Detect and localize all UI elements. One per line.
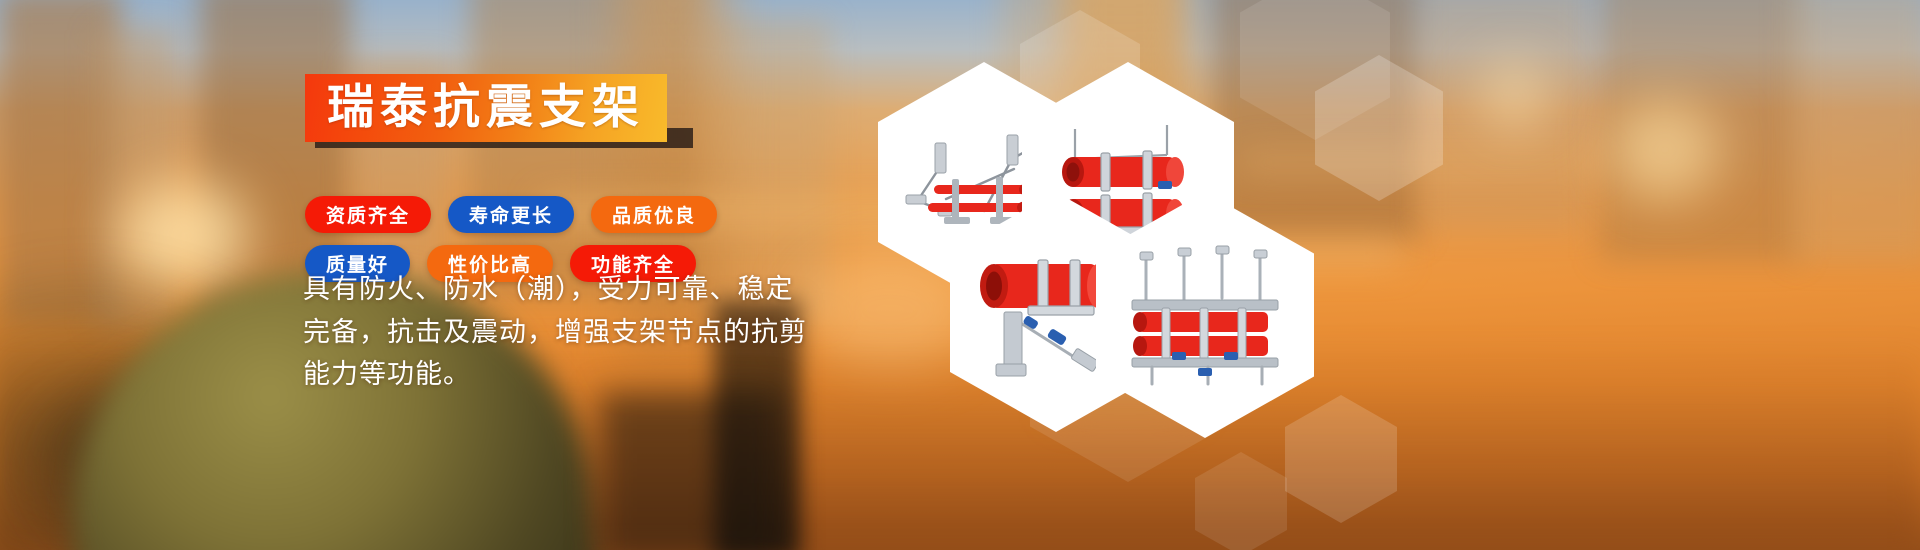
feature-tag-longer-life[interactable]: 寿命更长 [448, 196, 574, 233]
page-title: 瑞泰抗震支架 [327, 83, 645, 131]
description-line-1: 具有防火、防水（潮），受力可靠、稳定 [303, 268, 863, 311]
background-building-11 [1790, 0, 1920, 260]
feature-tag-quality-excellent[interactable]: 品质优良 [591, 196, 717, 233]
description-line-2: 完备，抗击及震动，增强支架节点的抗剪 [303, 311, 863, 354]
background-light-glow-4 [1480, 60, 1550, 130]
banner-description: 具有防火、防水（潮），受力可靠、稳定 完备，抗击及震动，增强支架节点的抗剪 能力… [303, 268, 863, 396]
title-block: 瑞泰抗震支架 [305, 74, 667, 142]
promo-banner: 瑞泰抗震支架 资质齐全 寿命更长 品质优良 质量好 性价比高 功能齐全 具有防火… [0, 0, 1920, 550]
multi-pipe-support-rack-icon [1112, 240, 1298, 390]
title-gradient-bar: 瑞泰抗震支架 [305, 74, 667, 142]
description-line-3: 能力等功能。 [303, 353, 863, 396]
feature-tag-qualifications[interactable]: 资质齐全 [305, 196, 431, 233]
feature-tag-row-1: 资质齐全 寿命更长 品质优良 [305, 196, 865, 233]
banner-content: 瑞泰抗震支架 资质齐全 寿命更长 品质优良 质量好 性价比高 功能齐全 具有防火… [0, 0, 900, 550]
background-light-glow-3 [1610, 100, 1720, 200]
